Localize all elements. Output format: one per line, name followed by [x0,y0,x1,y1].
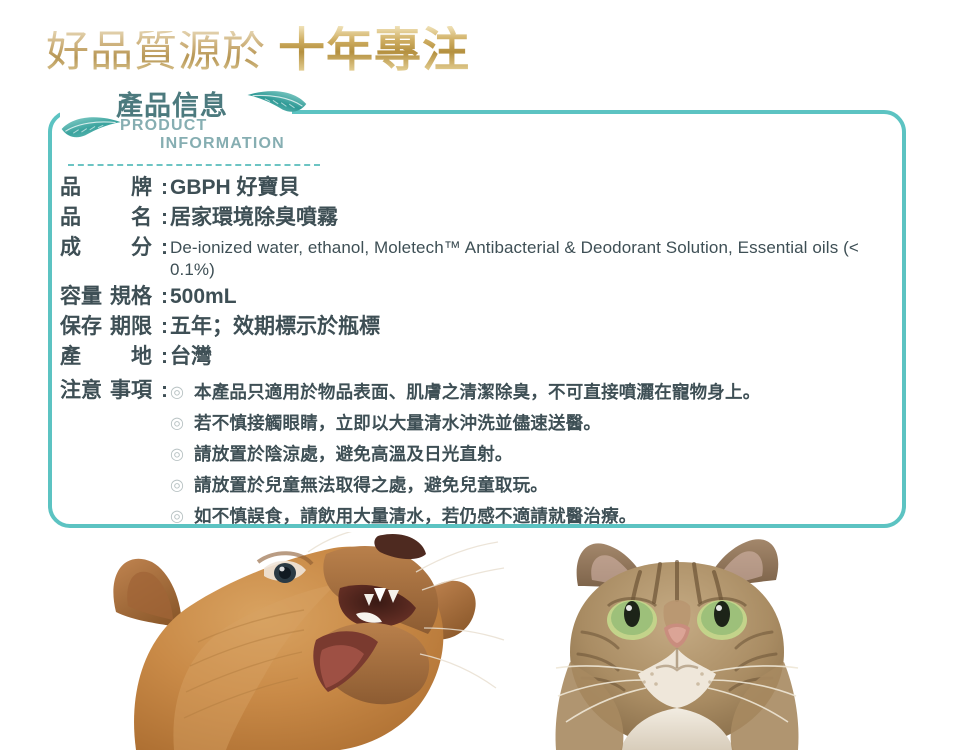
cautions-list: ◎ 本產品只適用於物品表面、肌膚之清潔除臭，不可直接噴灑在寵物身上。 ◎ 若不慎… [168,377,760,532]
caution-text: 本產品只適用於物品表面、肌膚之清潔除臭，不可直接噴灑在寵物身上。 [194,377,760,408]
leaf-ornament-left-icon [59,109,124,145]
page-headline: 好品質源於 十年專注 [46,26,470,74]
info-row-value: 五年；效期標示於瓶標 [168,313,380,341]
product-info-list: 品 牌 : GBPH 好寶貝 品 名 : 居家環境除臭噴霧 成 分 [60,174,900,532]
info-row-brand: 品 牌 : GBPH 好寶貝 [60,174,900,202]
label-char-b: 規格 [110,283,152,311]
pet-photo-strip [0,532,960,750]
label-colon: : [154,313,168,341]
label-colon: : [154,343,168,371]
label-char-b: 地 [131,343,152,371]
info-row-cautions: 注意 事項 : ◎ 本產品只適用於物品表面、肌膚之清潔除臭，不可直接噴灑在寵物身… [60,377,900,532]
info-row-value: 500mL [168,283,237,311]
headline-bold-part: 十年專注 [278,26,470,73]
info-row-label: 品 名 : [60,204,168,232]
label-char-b: 事項 [110,377,152,405]
double-circle-bullet-icon: ◎ [170,377,194,408]
label-char-a: 注意 [60,377,102,405]
label-colon: : [154,234,168,262]
label-colon: : [154,283,168,311]
info-row-shelf-life: 保存 期限 : 五年；效期標示於瓶標 [60,313,900,341]
double-circle-bullet-icon: ◎ [170,439,194,470]
caution-list-item: ◎ 本產品只適用於物品表面、肌膚之清潔除臭，不可直接噴灑在寵物身上。 [170,377,760,408]
caution-text: 請放置於兒童無法取得之處，避免兒童取玩。 [194,470,548,501]
caution-list-item: ◎ 若不慎接觸眼睛，立即以大量清水沖洗並儘速送醫。 [170,408,760,439]
caution-list-item: ◎ 如不慎誤食，請飲用大量清水，若仍感不適請就醫治療。 [170,501,760,532]
info-row-origin: 產 地 : 台灣 [60,343,900,371]
info-row-product-name: 品 名 : 居家環境除臭噴霧 [60,204,900,232]
label-colon: : [154,377,168,405]
caution-text: 如不慎誤食，請飲用大量清水，若仍感不適請就醫治療。 [194,501,637,532]
card-title-english-line2: INFORMATION [160,135,285,153]
info-row-ingredients: 成 分 : De-ionized water, ethanol, Moletec… [60,234,900,281]
info-row-label: 保存 期限 : [60,313,168,341]
caution-list-item: ◎ 請放置於兒童無法取得之處，避免兒童取玩。 [170,470,760,501]
card-title-english-line1: PRODUCT [120,117,208,135]
info-row-label: 容量 規格 : [60,283,168,311]
label-char-b: 牌 [131,174,152,202]
product-information-page: 好品質源於 十年專注 產品信息 [0,0,960,750]
label-char-a: 品 [60,204,81,232]
cautions-label: 注意 事項 : [60,377,168,405]
label-colon: : [154,174,168,202]
double-circle-bullet-icon: ◎ [170,501,194,532]
info-row-value: 居家環境除臭噴霧 [168,204,338,232]
caution-list-item: ◎ 請放置於陰涼處，避免高溫及日光直射。 [170,439,760,470]
caution-text: 請放置於陰涼處，避免高溫及日光直射。 [194,439,513,470]
leaf-ornament-right-icon [245,84,309,118]
label-char-a: 容量 [60,283,102,311]
label-char-b: 名 [131,204,152,232]
info-row-volume: 容量 規格 : 500mL [60,283,900,311]
cat-photo [552,532,802,750]
caution-text: 若不慎接觸眼睛，立即以大量清水沖洗並儘速送醫。 [194,408,601,439]
label-char-a: 保存 [60,313,102,341]
info-row-label: 成 分 : [60,234,168,262]
info-row-label: 品 牌 : [60,174,168,202]
card-title-block: 產品信息 PRODUCT INFORMATION [60,84,340,170]
headline-light-part: 好品質源於 [46,31,266,74]
double-circle-bullet-icon: ◎ [170,470,194,501]
label-char-b: 分 [131,234,152,262]
info-row-label: 產 地 : [60,343,168,371]
dog-photo [78,532,508,750]
info-row-value: De-ionized water, ethanol, Moletech™ Ant… [168,234,900,281]
double-circle-bullet-icon: ◎ [170,408,194,439]
title-divider [68,164,320,166]
label-char-a: 產 [60,343,81,371]
label-char-a: 品 [60,174,81,202]
label-colon: : [154,204,168,232]
label-char-b: 期限 [110,313,152,341]
label-char-a: 成 [60,234,81,262]
info-row-value: 台灣 [168,343,212,371]
info-row-value: GBPH 好寶貝 [168,174,300,202]
